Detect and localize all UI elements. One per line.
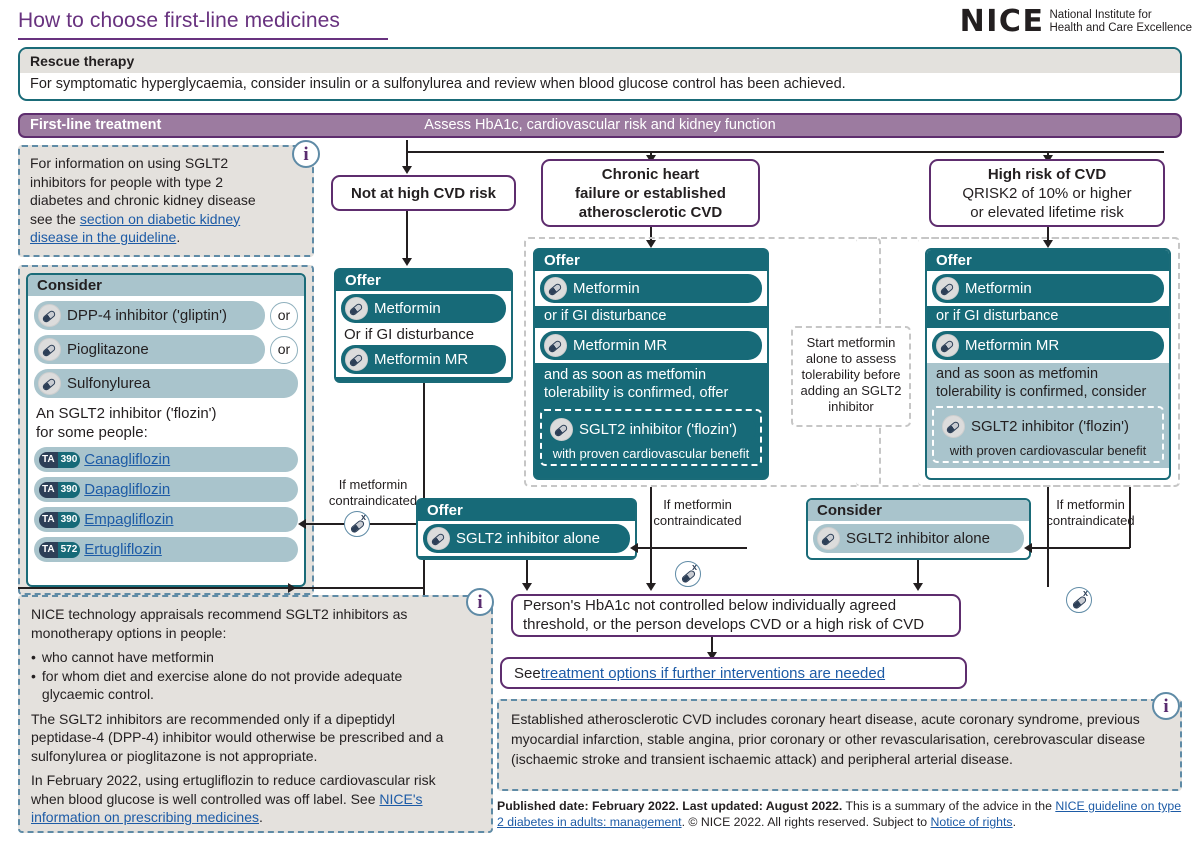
highrisk-title: High risk of CVD [988,165,1106,184]
rescue-therapy-heading: Rescue therapy [20,49,1180,73]
link-treatment-options[interactable]: treatment options if further interventio… [541,664,885,683]
offer-card-high-risk: Offer Metformin or if GI disturbance Met… [925,248,1171,480]
offer-heading: Offer [927,250,1169,271]
offer-row-metformin: Metformin [927,271,1169,306]
info-box-established-cvd: Established atherosclerotic CVD includes… [497,699,1182,791]
contraindicated-line1: If metformin [339,477,408,492]
offer-gi-disturbance-note: or if GI disturbance [535,306,767,328]
or-chip-0: or [270,302,298,330]
rescue-therapy-body: For symptomatic hyperglycaemia, consider… [20,73,1180,95]
connector-bottom-rail [18,587,423,589]
monotherapy-para2: The SGLT2 inhibitors are recommended onl… [31,710,461,766]
decision-not-high-cvd-risk: Not at high CVD risk [331,175,516,211]
pill-label: Metformin MR [965,336,1059,355]
consider-option-row-2: Sulfonylurea [34,369,298,398]
offer-row-metformin-mr: Metformin MR [927,328,1169,363]
pill-metformin[interactable]: Metformin [932,274,1164,303]
pill-label: SGLT2 inhibitor alone [846,529,990,548]
title-underline [18,38,388,40]
flozin-canagliflozin[interactable]: TA390 Canagliflozin [34,447,298,472]
pill-label: SGLT2 inhibitor ('flozin') [579,420,737,439]
nice-strapline-line2: Health and Care Excellence [1049,22,1192,34]
ta-badge-number: 390 [58,482,81,498]
arrow-col2-to-offeralone [630,543,638,553]
outcome-not-controlled: Person's HbA1c not controlled below indi… [511,594,961,637]
ta-badge: TA390 [39,512,80,528]
label-contraindicated-col3: If metformin contraindicated [1038,497,1143,529]
highrisk-subtitle-line1: QRISK2 of 10% or higher [962,184,1131,203]
offer-heading: Offer [535,250,767,271]
connector-top-horizontal [406,151,1164,153]
option-label: DPP-4 inhibitor ('gliptin') [67,306,227,325]
not-controlled-line2: threshold, or the person develops CVD or… [523,615,924,634]
pill-label: Metformin MR [573,336,667,355]
pill-icon [936,277,959,300]
pill-label: Metformin MR [374,350,468,369]
ta-badge: TA390 [39,452,80,468]
offer-heading: Offer [336,270,511,291]
info-established-text: Established atherosclerotic CVD includes… [511,711,1145,767]
no-metformin-icon-col1: x [344,511,370,537]
flozin-link[interactable]: Ertugliflozin [84,540,162,559]
pill-icon [942,415,965,438]
pill-metformin[interactable]: Metformin [540,274,762,303]
arrow-col1-to-left [298,519,306,529]
arrow-bottom-rail-right [288,583,296,593]
offer-row-metformin: Metformin [336,291,511,326]
assess-instruction: Assess HbA1c, cardiovascular risk and ki… [20,117,1180,133]
connector-col2-to-offeralone [637,547,747,549]
contraindicated-line1: If metformin [1056,497,1125,512]
chf-title-line2: failure or established [575,184,726,203]
footer-mid: This is a summary of the advice in the [842,799,1055,813]
contraindicated-line2: contraindicated [653,513,741,528]
see-treatment-options-box: See treatment options if further interve… [500,657,967,689]
info-icon-established-cvd: i [1152,692,1180,720]
consider-panel-left: Consider DPP-4 inhibitor ('gliptin') or … [26,273,306,587]
chf-title-line1: Chronic heart [602,165,700,184]
pill-icon [817,527,840,550]
pill-sglt2-inhibitor-alone[interactable]: SGLT2 inhibitor alone [423,524,630,553]
offer-alone-row: SGLT2 inhibitor alone [418,521,635,556]
bullet-dot: • [31,667,36,704]
arrow-col2-to-notcontrolled [646,583,656,591]
offer-gi-disturbance-note: Or if GI disturbance [336,326,511,343]
pill-icon [38,338,61,361]
offer-tolerability-note: and as soon as metfomin tolerability is … [927,363,1169,403]
monotherapy-para1: NICE technology appraisals recommend SGL… [31,605,461,642]
consider-option-row-0: DPP-4 inhibitor ('gliptin') or [34,301,298,330]
ta-badge-prefix: TA [39,482,58,498]
info-icon-monotherapy: i [466,588,494,616]
start-metformin-note-text: Start metformin alone to assess tolerabi… [793,328,909,422]
contraindicated-line2: contraindicated [329,493,417,508]
nice-wordmark: NICE [960,8,1045,36]
flozin-intro: An SGLT2 inhibitor ('flozin') for some p… [34,402,298,447]
offer-row-metformin: Metformin [535,271,767,306]
ta-badge-number: 572 [58,542,81,558]
or-chip-1: or [270,336,298,364]
pill-icon [345,297,368,320]
no-metformin-icon-col3: x [1066,587,1092,613]
offer-sglt2-alone-card: Offer SGLT2 inhibitor alone [416,498,637,560]
footer-dates: Published date: February 2022. Last upda… [497,799,842,813]
flozin-link[interactable]: Canagliflozin [84,450,170,469]
consider-alone-row: SGLT2 inhibitor alone [808,521,1029,556]
see-treatment-prefix: See [514,664,541,683]
offer-tolerability-note: and as soon as metfomin tolerability is … [535,363,767,405]
pill-sglt2-inhibitor-chf[interactable]: SGLT2 inhibitor ('flozin') [546,415,756,444]
arrow-highrisk-to-offer [1043,240,1053,248]
nice-logo: NICE National Institute for Health and C… [960,8,1192,36]
pill-icon [38,372,61,395]
page-title: How to choose first-line medicines [18,9,340,33]
ta-badge-number: 390 [58,512,81,528]
pill-sglt2-inhibitor-alone-consider[interactable]: SGLT2 inhibitor alone [813,524,1024,553]
arrow-to-notrisk [402,166,412,174]
pill-label: Metformin [374,299,441,318]
pill-sglt2-inhibitor-high-risk[interactable]: SGLT2 inhibitor ('flozin') [938,412,1158,441]
arrow-offeralone-down [522,583,532,591]
pill-metformin-mr[interactable]: Metformin MR [540,331,762,360]
offer-alone-heading: Offer [418,500,635,521]
contraindicated-line2: contraindicated [1046,513,1134,528]
label-contraindicated-col1: If metformin contraindicated [318,477,428,509]
flozin-subgroup-chf: SGLT2 inhibitor ('flozin') with proven c… [540,409,762,466]
pill-metformin[interactable]: Metformin [341,294,506,323]
contraindicated-line1: If metformin [663,497,732,512]
flozin-subgroup-high-risk: SGLT2 inhibitor ('flozin') with proven c… [932,406,1164,463]
monotherapy-bullets: •who cannot have metformin •for whom die… [31,648,461,704]
flowchart-page: How to choose first-line medicines NICE … [0,0,1200,848]
pill-icon [345,348,368,371]
arrow-col3-to-consideralone [1024,543,1032,553]
not-controlled-line1: Person's HbA1c not controlled below indi… [523,596,896,615]
pill-icon [936,334,959,357]
offer-gi-disturbance-note: or if GI disturbance [927,306,1169,328]
offer-row-metformin-mr: Metformin MR [336,343,511,377]
footer-mid2: . © NICE 2022. All rights reserved. Subj… [682,815,931,829]
pill-icon [550,418,573,441]
pill-metformin-mr[interactable]: Metformin MR [341,345,506,374]
connector-col3-to-consideralone [1031,547,1130,549]
pill-metformin-mr[interactable]: Metformin MR [932,331,1164,360]
highrisk-subtitle-line2: or elevated lifetime risk [970,203,1123,222]
ta-badge: TA572 [39,542,80,558]
pill-icon [544,277,567,300]
offer-card-chf: Offer Metformin or if GI disturbance Met… [533,248,769,480]
first-line-treatment-bar: First-line treatment Assess HbA1c, cardi… [18,113,1182,138]
flozin-dapagliflozin[interactable]: TA390 Dapagliflozin [34,477,298,502]
flozin-ertugliflozin[interactable]: TA572 Ertugliflozin [34,537,298,562]
consider-alone-heading: Consider [808,500,1029,521]
connector-col3-branch-down [1129,487,1131,548]
flozin-link[interactable]: Dapagliflozin [84,480,170,499]
ta-badge-prefix: TA [39,512,58,528]
pill-icon [38,304,61,327]
nice-strapline: National Institute for Health and Care E… [1049,9,1192,35]
footer-end: . [1013,815,1016,829]
label-contraindicated-col2: If metformin contraindicated [645,497,750,529]
info-box-ckd: For information on using SGLT2 inhibitor… [18,145,314,257]
bullet-dot: • [31,648,36,667]
decision-high-risk-cvd: High risk of CVD QRISK2 of 10% or higher… [929,159,1165,227]
offer-card-not-high-risk: Offer Metformin Or if GI disturbance Met… [334,268,513,383]
decision-chronic-heart-failure: Chronic heart failure or established ath… [541,159,760,227]
offer-row-metformin-mr: Metformin MR [535,328,767,363]
rescue-therapy-panel: Rescue therapy For symptomatic hyperglyc… [18,47,1182,101]
pill-label: Metformin [965,279,1032,298]
option-pioglitazone[interactable]: Pioglitazone [34,335,265,364]
monotherapy-para3-before: In February 2022, using ertugliflozin to… [31,772,436,807]
option-dpp4-inhibitor[interactable]: DPP-4 inhibitor ('gliptin') [34,301,265,330]
ta-badge-prefix: TA [39,542,58,558]
arrow-consideralone-down [913,583,923,591]
nice-strapline-line1: National Institute for [1049,9,1151,21]
option-label: Sulfonylurea [67,374,150,393]
monotherapy-para3: In February 2022, using ertugliflozin to… [31,771,461,827]
monotherapy-para3-after: . [259,809,263,825]
footer: Published date: February 2022. Last upda… [497,798,1187,830]
option-label: Pioglitazone [67,340,149,359]
pill-label: SGLT2 inhibitor ('flozin') [971,417,1129,436]
consider-sglt2-alone-card: Consider SGLT2 inhibitor alone [806,498,1031,560]
chf-title-line3: atherosclerotic CVD [579,203,722,222]
link-notice-of-rights[interactable]: Notice of rights [931,815,1013,829]
flozin-link[interactable]: Empagliflozin [84,510,173,529]
flozin-subnote: with proven cardiovascular benefit [546,444,756,461]
pill-icon [544,334,567,357]
consider-panel-heading: Consider [28,275,304,296]
monotherapy-bullet-0: who cannot have metformin [42,648,214,667]
pill-icon [427,527,450,550]
ta-badge-number: 390 [58,452,81,468]
monotherapy-bullet-1: for whom diet and exercise alone do not … [42,667,461,704]
arrow-notrisk-to-offer [402,258,412,266]
start-metformin-note-box: Start metformin alone to assess tolerabi… [791,326,911,427]
info-box-monotherapy: NICE technology appraisals recommend SGL… [18,595,493,833]
flozin-empagliflozin[interactable]: TA390 Empagliflozin [34,507,298,532]
connector-notrisk-to-offer [406,211,408,263]
pill-label: Metformin [573,279,640,298]
consider-option-row-1: Pioglitazone or [34,335,298,364]
pill-label: SGLT2 inhibitor alone [456,529,600,548]
option-sulfonylurea[interactable]: Sulfonylurea [34,369,298,398]
decision-not-high-cvd-risk-label: Not at high CVD risk [351,184,496,203]
no-metformin-icon-col2: x [675,561,701,587]
flozin-intro-line2: for some people: [36,424,148,441]
flozin-intro-line1: An SGLT2 inhibitor ('flozin') [36,405,217,422]
ta-badge-prefix: TA [39,452,58,468]
info-icon-ckd: i [292,140,320,168]
info-ckd-text-after: . [176,229,180,245]
flozin-subnote: with proven cardiovascular benefit [938,441,1158,458]
ta-badge: TA390 [39,482,80,498]
